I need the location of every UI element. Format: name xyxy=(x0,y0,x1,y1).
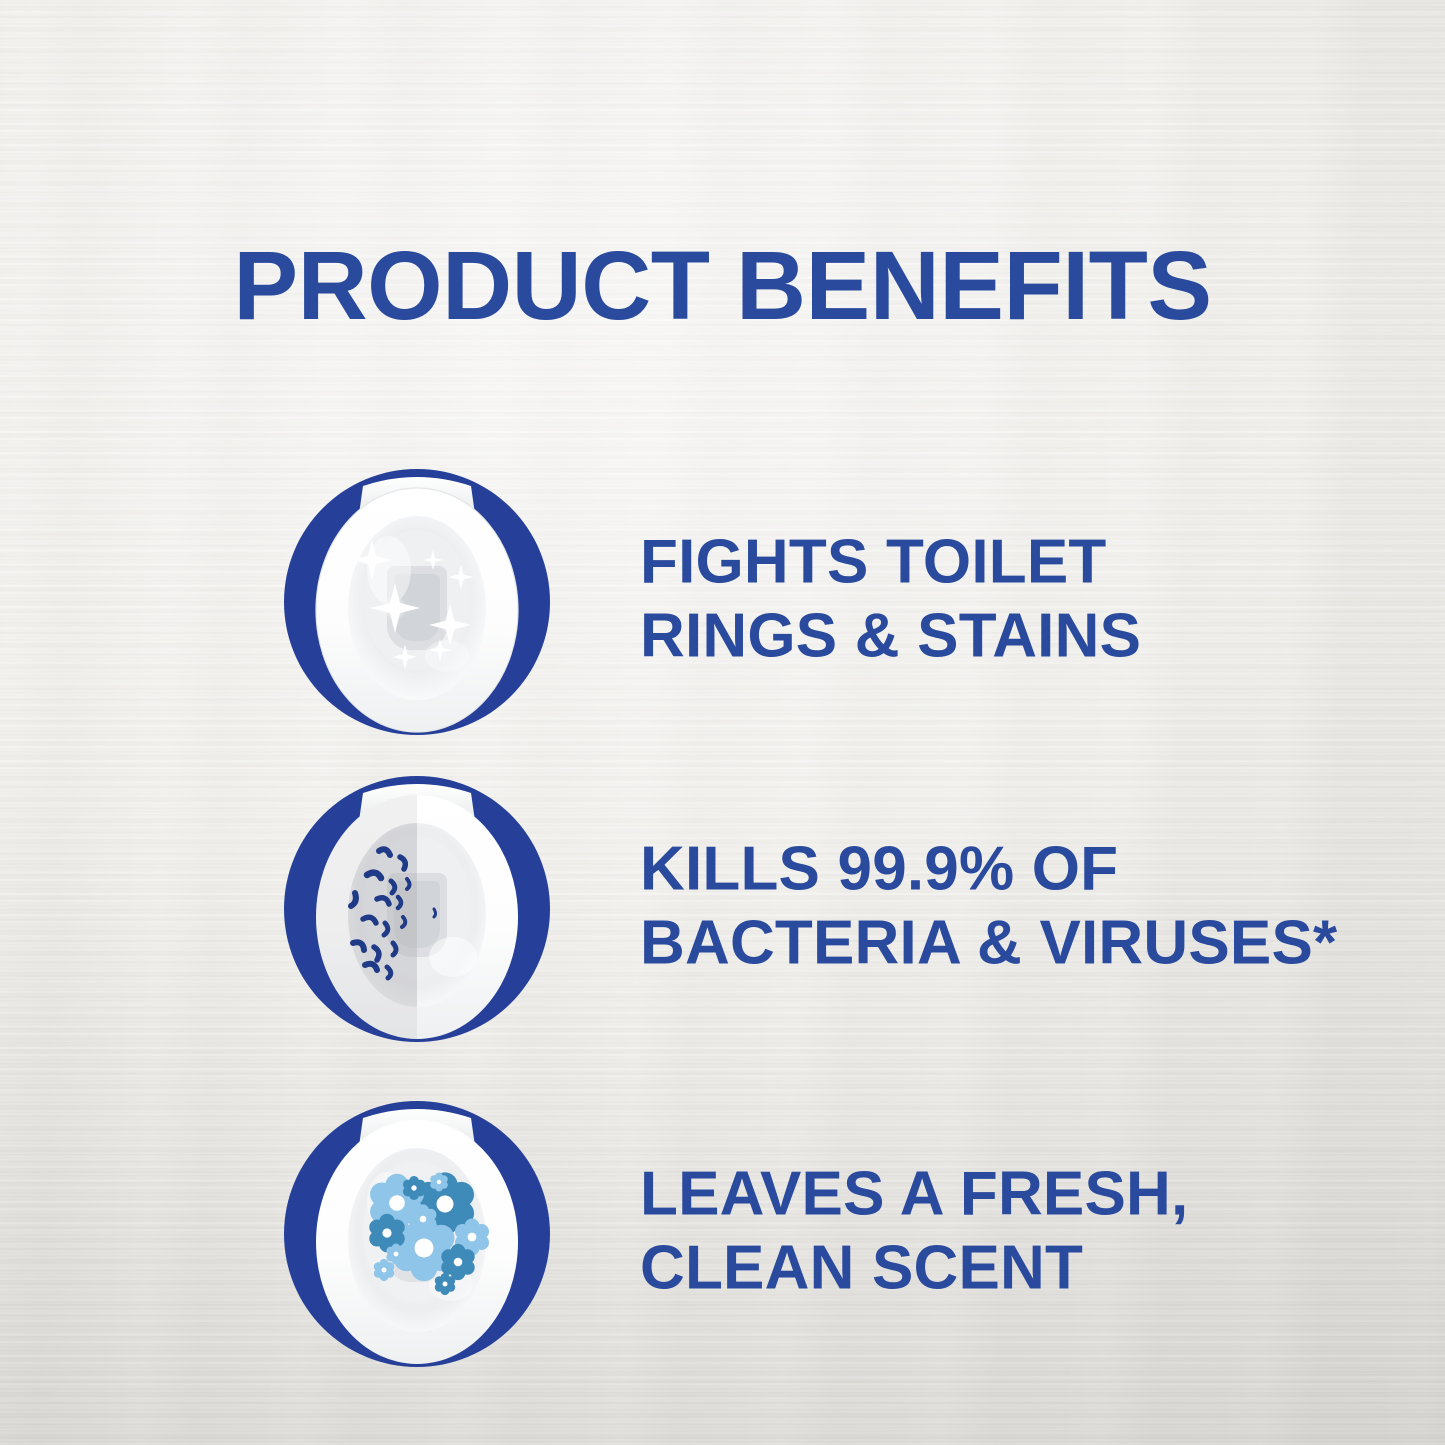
page-title: PRODUCT BENEFITS xyxy=(0,237,1445,334)
toilet-bowl-flowers-icon xyxy=(267,1082,567,1382)
toilet-bowl-germs-split-icon xyxy=(267,757,567,1057)
benefit-row-fresh-clean-scent: LEAVES A FRESH, CLEAN SCENT xyxy=(0,1082,1445,1382)
toilet-bowl-sparkle-icon xyxy=(267,450,567,750)
product-benefits-infographic: PRODUCT BENEFITS xyxy=(0,0,1445,1445)
benefit-row-fights-rings-stains: FIGHTS TOILET RINGS & STAINS xyxy=(0,450,1445,750)
benefit-text-kills-bacteria-viruses: KILLS 99.9% OF BACTERIA & VIRUSES* xyxy=(640,833,1337,982)
benefit-text-fights-rings-stains: FIGHTS TOILET RINGS & STAINS xyxy=(640,526,1141,675)
benefit-text-fresh-clean-scent: LEAVES A FRESH, CLEAN SCENT xyxy=(640,1158,1188,1307)
benefit-row-kills-bacteria-viruses: KILLS 99.9% OF BACTERIA & VIRUSES* xyxy=(0,757,1445,1057)
